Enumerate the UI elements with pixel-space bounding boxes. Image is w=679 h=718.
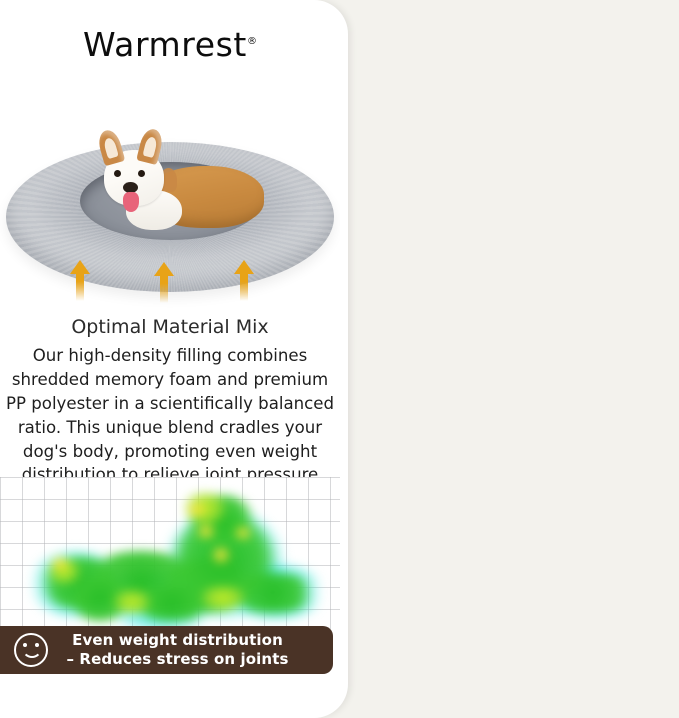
panel-warmrest: Warmrest®	[0, 0, 348, 718]
warmrest-caption-bar: Even weight distribution – Reduces stres…	[0, 626, 333, 674]
upward-arrow-icon	[70, 260, 90, 302]
panel-other: Other	[340, 0, 679, 718]
registered-trademark-icon: ®	[247, 36, 257, 47]
brand-logo: Warmrest®	[0, 28, 340, 61]
heatmap-dog-shape	[36, 491, 304, 615]
warmrest-product-photo	[0, 104, 340, 309]
warmrest-caption-text: Even weight distribution – Reduces stres…	[48, 631, 333, 668]
corgi-ear-left	[96, 128, 126, 166]
corgi-eye-right	[138, 170, 145, 177]
brand-name: Warmrest	[83, 25, 247, 64]
smiley-face-icon	[14, 633, 48, 667]
corgi-tongue	[123, 192, 139, 212]
warmrest-heatmap	[0, 477, 340, 629]
upward-arrow-icon	[234, 260, 254, 302]
comparison-infographic: Other	[0, 0, 679, 718]
corgi-ear-right	[136, 127, 165, 165]
warmrest-subhead: Optimal Material Mix	[0, 316, 340, 338]
upward-arrow-icon	[154, 262, 174, 304]
corgi-illustration	[92, 144, 268, 244]
donut-bed-shape	[6, 142, 334, 292]
corgi-eye-left	[114, 170, 121, 177]
